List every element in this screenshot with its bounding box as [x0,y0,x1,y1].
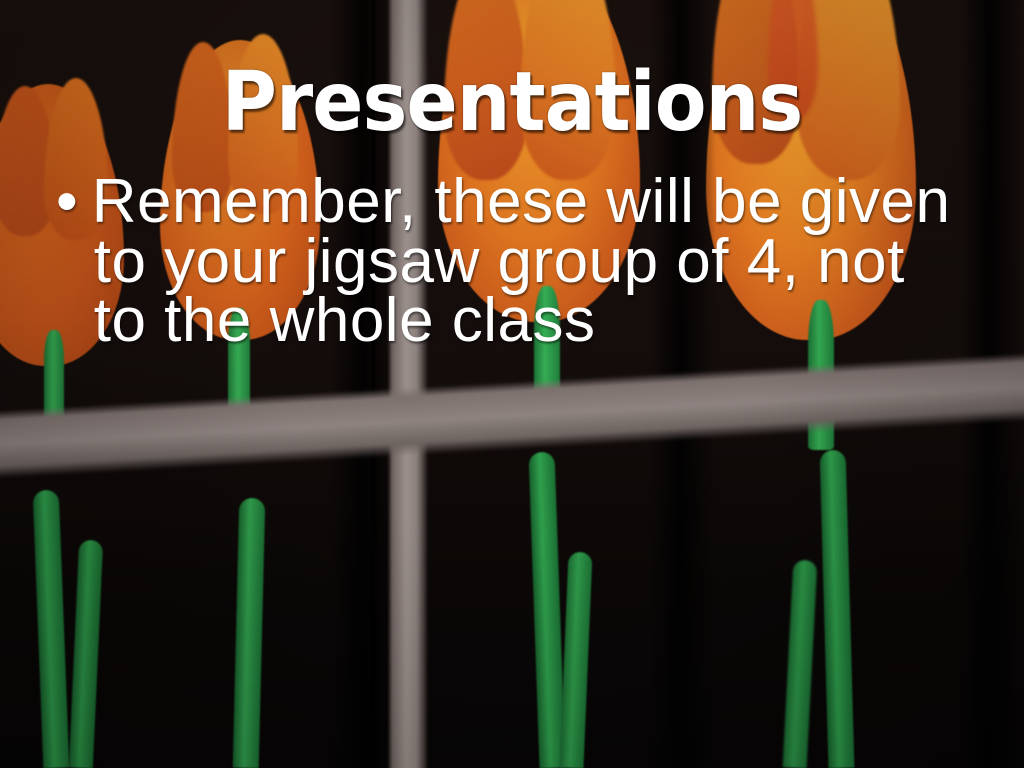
presentation-slide: Presentations • Remember, these will be … [0,0,1024,768]
bullet-list-item: • Remember, these will be given to your … [56,172,956,351]
slide-body: • Remember, these will be given to your … [56,172,956,351]
slide-title: Presentations [41,62,983,144]
bullet-marker-icon: • [56,172,78,232]
bullet-item-text: Remember, these will be given to your ji… [94,172,956,351]
